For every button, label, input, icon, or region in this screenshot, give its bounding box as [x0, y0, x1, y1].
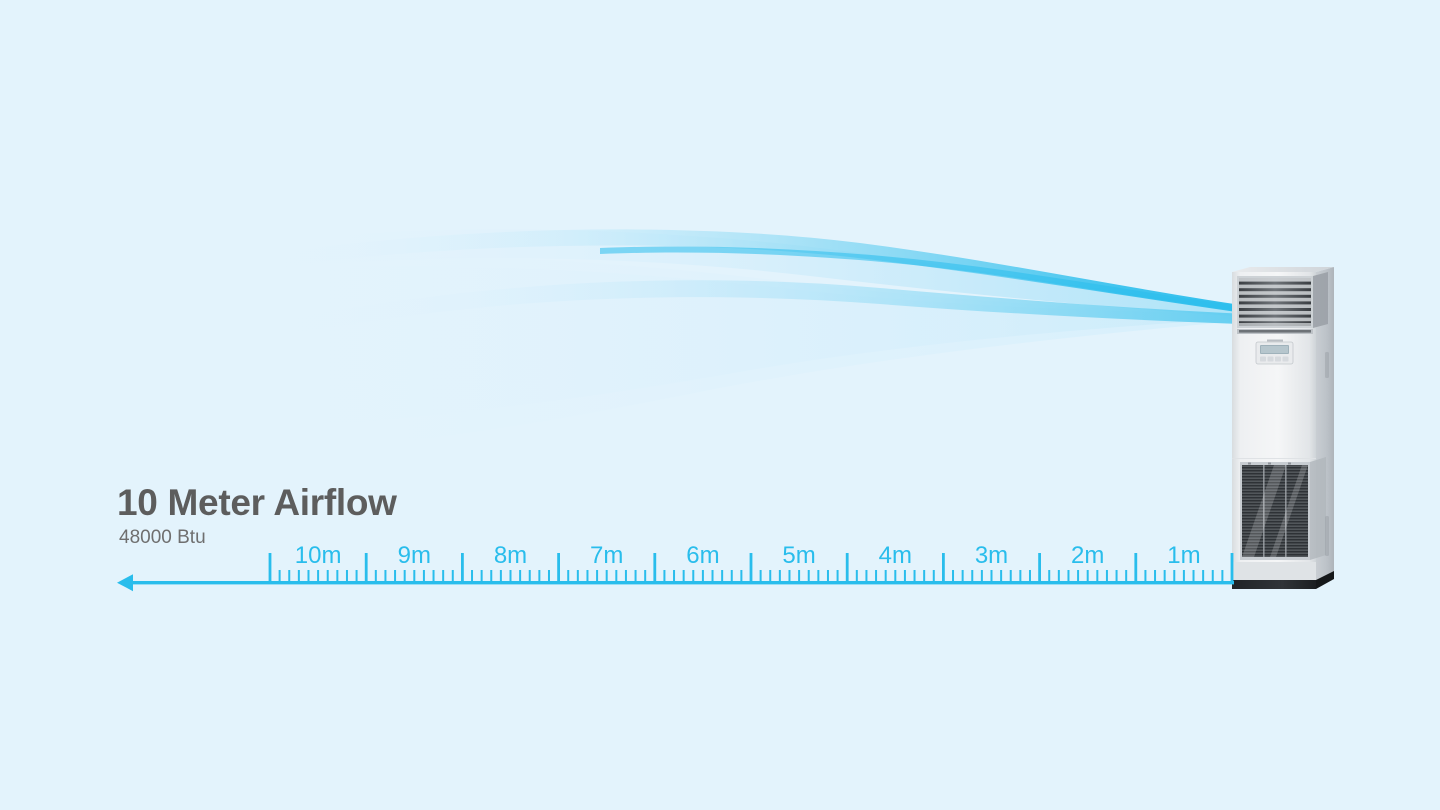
ruler-major-tick [1038, 553, 1041, 583]
ruler-minor-tick [375, 570, 377, 583]
airflow-stream-4 [270, 266, 1300, 428]
ruler-minor-tick [1096, 570, 1098, 583]
ruler-minor-tick [1212, 570, 1214, 583]
ruler-major-tick [846, 553, 849, 583]
ruler-minor-tick [307, 570, 309, 583]
ruler-minor-tick [606, 570, 608, 583]
ruler-minor-tick [837, 570, 839, 583]
ruler-minor-tick [1202, 570, 1204, 583]
ruler-minor-tick [423, 570, 425, 583]
ruler-minor-tick [673, 570, 675, 583]
ruler-minor-tick [702, 570, 704, 583]
page-title: 10 Meter Airflow [117, 481, 637, 525]
ruler-minor-tick [1067, 570, 1069, 583]
ruler-minor-tick [625, 570, 627, 583]
ruler-minor-tick [529, 570, 531, 583]
ruler-minor-tick [433, 570, 435, 583]
ruler-minor-tick [567, 570, 569, 583]
ruler-major-tick [750, 553, 753, 583]
ruler-minor-tick [740, 570, 742, 583]
ruler-minor-tick [336, 570, 338, 583]
ruler-tick-label: 2m [1071, 543, 1104, 569]
ruler-minor-tick [981, 570, 983, 583]
ruler-major-tick [365, 553, 368, 583]
ruler-minor-tick [635, 570, 637, 583]
ruler-major-tick [461, 553, 464, 583]
ruler-minor-tick [471, 570, 473, 583]
ruler-minor-tick [644, 570, 646, 583]
ruler-minor-tick [519, 570, 521, 583]
airflow-stream-accent [600, 247, 1302, 318]
ruler-minor-tick [904, 570, 906, 583]
ruler-minor-tick [279, 570, 281, 583]
ruler-minor-tick [779, 570, 781, 583]
ruler-minor-tick [827, 570, 829, 583]
ruler-minor-tick [577, 570, 579, 583]
ruler-tick-label: 4m [879, 543, 912, 569]
caption-block: 10 Meter Airflow 48000 Btu [117, 481, 637, 550]
ruler-minor-tick [327, 570, 329, 583]
ruler-minor-tick [683, 570, 685, 583]
ruler-minor-tick [1221, 570, 1223, 583]
ruler-minor-tick [298, 570, 300, 583]
ruler-minor-tick [1010, 570, 1012, 583]
ruler-minor-tick [721, 570, 723, 583]
ruler-minor-tick [413, 570, 415, 583]
ruler-major-tick [1231, 553, 1234, 583]
ruler-minor-tick [1154, 570, 1156, 583]
ruler-minor-tick [548, 570, 550, 583]
ruler-minor-tick [1077, 570, 1079, 583]
ruler-major-tick [557, 553, 560, 583]
ruler-minor-tick [615, 570, 617, 583]
ruler-minor-tick [442, 570, 444, 583]
ruler-minor-tick [894, 570, 896, 583]
ruler-minor-tick [1000, 570, 1002, 583]
ruler-minor-tick [452, 570, 454, 583]
ruler-minor-tick [1048, 570, 1050, 583]
ac-brand-strip [1267, 340, 1283, 342]
ruler-minor-tick [1173, 570, 1175, 583]
ruler-minor-tick [1125, 570, 1127, 583]
airflow-stream-5 [268, 256, 1300, 452]
illustration-canvas: 10m9m8m7m6m5m4m3m2m1m 10 Meter Airflow 4… [0, 0, 1440, 810]
ruler-major-tick [653, 553, 656, 583]
ruler-minor-tick [490, 570, 492, 583]
ruler-minor-tick [663, 570, 665, 583]
ruler-minor-tick [923, 570, 925, 583]
airflow-stream-1 [274, 229, 1301, 321]
ruler-minor-tick [317, 570, 319, 583]
ruler-geometry [117, 553, 1234, 591]
ruler-minor-tick [991, 570, 993, 583]
ruler-minor-tick [510, 570, 512, 583]
ruler-minor-tick [769, 570, 771, 583]
ruler-minor-tick [356, 570, 358, 583]
ruler-minor-tick [798, 570, 800, 583]
ruler-minor-tick [1183, 570, 1185, 583]
ruler-minor-tick [288, 570, 290, 583]
ruler-minor-tick [1087, 570, 1089, 583]
ruler-minor-tick [1058, 570, 1060, 583]
ruler-minor-tick [346, 570, 348, 583]
ruler-minor-tick [481, 570, 483, 583]
ruler-minor-tick [692, 570, 694, 583]
ruler-minor-tick [933, 570, 935, 583]
ruler-minor-tick [586, 570, 588, 583]
ruler-minor-tick [1164, 570, 1166, 583]
ruler-minor-tick [1116, 570, 1118, 583]
ruler-minor-tick [1106, 570, 1108, 583]
ruler-minor-tick [596, 570, 598, 583]
ruler-tick-label: 6m [686, 543, 719, 569]
ruler-minor-tick [1029, 570, 1031, 583]
airflow-stream-3 [272, 230, 1300, 320]
ruler-minor-tick [875, 570, 877, 583]
ruler-tick-label: 3m [975, 543, 1008, 569]
ruler-minor-tick [760, 570, 762, 583]
ac-door-seam [1232, 458, 1316, 459]
ruler-major-tick [942, 553, 945, 583]
ruler-minor-tick [952, 570, 954, 583]
ruler-minor-tick [1019, 570, 1021, 583]
ruler-major-tick [1134, 553, 1137, 583]
ruler-minor-tick [1144, 570, 1146, 583]
ruler-tick-label: 5m [782, 543, 815, 569]
ruler-minor-tick [712, 570, 714, 583]
ruler-arrow-icon [117, 574, 133, 591]
ruler-minor-tick [731, 570, 733, 583]
ruler-minor-tick [394, 570, 396, 583]
ruler-minor-tick [404, 570, 406, 583]
ruler-minor-tick [538, 570, 540, 583]
ruler-major-tick [269, 553, 272, 583]
ruler-minor-tick [808, 570, 810, 583]
capacity-subtitle: 48000 Btu [119, 526, 637, 550]
ruler-minor-tick [856, 570, 858, 583]
ruler-minor-tick [817, 570, 819, 583]
ac-outlet-grille-side [1313, 272, 1328, 328]
ruler-minor-tick [788, 570, 790, 583]
ruler-minor-tick [1193, 570, 1195, 583]
ruler-minor-tick [962, 570, 964, 583]
ruler-tick-label: 1m [1167, 543, 1200, 569]
ruler-minor-tick [914, 570, 916, 583]
ruler-minor-tick [885, 570, 887, 583]
ruler-minor-tick [971, 570, 973, 583]
ruler-minor-tick [865, 570, 867, 583]
airflow-streams [0, 0, 1440, 810]
ruler-minor-tick [384, 570, 386, 583]
ruler-minor-tick [500, 570, 502, 583]
airflow-stream-2 [276, 280, 1301, 336]
ac-top-face [1232, 267, 1334, 272]
